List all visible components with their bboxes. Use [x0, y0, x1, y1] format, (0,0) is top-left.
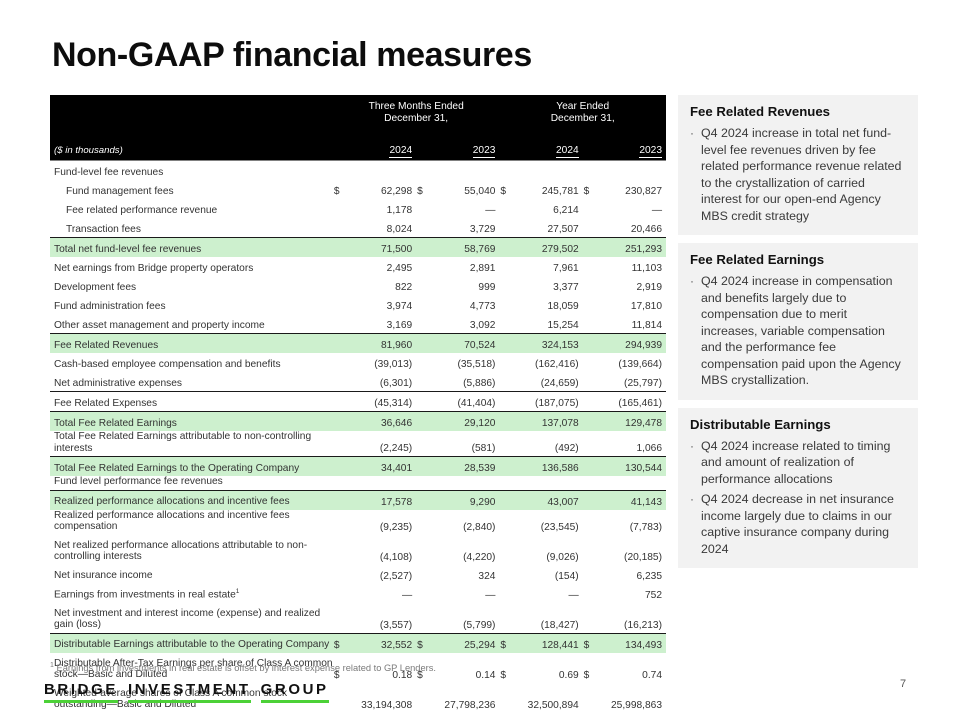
- bullet-item: ·Q4 2024 decrease in net insurance incom…: [690, 491, 906, 557]
- currency-symbol-3: [499, 372, 513, 392]
- cell-value: 18,059: [513, 295, 582, 314]
- table-row: Net insurance income(2,527)324(154)6,235: [50, 565, 666, 584]
- currency-symbol-2: [416, 490, 430, 510]
- currency-symbol-2: [416, 353, 430, 372]
- cell-value: [513, 161, 582, 181]
- year-header-3: 2024: [513, 135, 582, 161]
- table-row: Fund level performance fee revenues: [50, 476, 666, 490]
- currency-symbol-4: [583, 535, 597, 565]
- table-row: Total Fee Related Earnings attributable …: [50, 431, 666, 457]
- cell-value: 58,769: [430, 238, 499, 258]
- bullet-text: Q4 2024 increase related to timing and a…: [701, 438, 906, 488]
- cell-value: 28,539: [430, 457, 499, 477]
- row-label: Total net fund-level fee revenues: [50, 238, 333, 258]
- cell-value: (39,013): [347, 353, 416, 372]
- panel-title: Fee Related Earnings: [690, 252, 906, 268]
- cell-value: (4,108): [347, 535, 416, 565]
- row-label: Fund management fees: [50, 180, 333, 199]
- currency-symbol-4: [583, 295, 597, 314]
- cell-value: 11,103: [597, 257, 666, 276]
- cell-value: (165,461): [597, 392, 666, 412]
- cell-value: [430, 476, 499, 490]
- row-label-superscript: 1: [236, 588, 240, 595]
- currency-symbol-1: [333, 372, 347, 392]
- bullet-item: ·Q4 2024 increase related to timing and …: [690, 438, 906, 488]
- non-gaap-reconciliation-table: Three Months EndedDecember 31,Year Ended…: [50, 95, 666, 713]
- commentary-panel: Fee Related Earnings·Q4 2024 increase in…: [678, 243, 918, 400]
- currency-symbol-3: [499, 218, 513, 238]
- logo-word: INVESTMENT: [128, 682, 251, 703]
- table-row: Net administrative expenses(6,301)(5,886…: [50, 372, 666, 392]
- table-row: Fund administration fees3,9744,77318,059…: [50, 295, 666, 314]
- commentary-panels: Fee Related Revenues·Q4 2024 increase in…: [678, 95, 918, 576]
- currency-symbol-1: [333, 490, 347, 510]
- currency-symbol-2: [416, 314, 430, 334]
- table-row: Total Fee Related Earnings36,64629,12013…: [50, 412, 666, 432]
- cell-value: 7,961: [513, 257, 582, 276]
- currency-symbol-4: [583, 238, 597, 258]
- currency-symbol-1: [333, 565, 347, 584]
- bullet-text: Q4 2024 increase in compensation and ben…: [701, 273, 906, 389]
- table-row: Transaction fees8,0243,72927,50720,466: [50, 218, 666, 238]
- cell-value: 294,939: [597, 334, 666, 354]
- row-label: Other asset management and property inco…: [50, 314, 333, 334]
- cell-value: —: [430, 199, 499, 218]
- cell-value: 2,919: [597, 276, 666, 295]
- cell-value: 9,290: [430, 490, 499, 510]
- cell-value: (18,427): [513, 603, 582, 634]
- cell-value: 32,552: [347, 633, 416, 653]
- cell-value: 81,960: [347, 334, 416, 354]
- table-footnote: 1 Earnings from investments in real esta…: [50, 660, 670, 674]
- cell-value: [430, 161, 499, 181]
- currency-symbol-4: [583, 510, 597, 535]
- cell-value: (45,314): [347, 392, 416, 412]
- cell-value: —: [513, 584, 582, 603]
- cell-value: 71,500: [347, 238, 416, 258]
- currency-symbol-3: [499, 565, 513, 584]
- currency-symbol-1: [333, 161, 347, 181]
- currency-symbol-2: [416, 603, 430, 634]
- year-header-2: 2023: [430, 135, 499, 161]
- currency-symbol-4: [583, 490, 597, 510]
- cell-value: 3,974: [347, 295, 416, 314]
- bullet-text: Q4 2024 decrease in net insurance income…: [701, 491, 906, 557]
- bridge-investment-group-logo: BRIDGEINVESTMENTGROUP: [44, 682, 329, 703]
- cell-value: (24,659): [513, 372, 582, 392]
- currency-symbol-1: [333, 238, 347, 258]
- row-label: Distributable Earnings attributable to t…: [50, 633, 333, 653]
- currency-symbol-3: [499, 314, 513, 334]
- cell-value: (5,799): [430, 603, 499, 634]
- year-col-spacer-3: [499, 135, 513, 161]
- currency-symbol-1: [333, 510, 347, 535]
- currency-symbol-1: $: [333, 180, 347, 199]
- header-blank: [50, 95, 333, 135]
- row-label: Realized performance allocations and inc…: [50, 510, 333, 535]
- currency-symbol-1: [333, 683, 347, 713]
- currency-symbol-1: [333, 218, 347, 238]
- cell-value: 34,401: [347, 457, 416, 477]
- currency-symbol-2: [416, 334, 430, 354]
- currency-symbol-2: [416, 412, 430, 432]
- currency-symbol-4: [583, 412, 597, 432]
- currency-symbol-2: [416, 276, 430, 295]
- panel-title: Fee Related Revenues: [690, 104, 906, 120]
- logo-word: GROUP: [261, 682, 329, 703]
- currency-symbol-1: [333, 535, 347, 565]
- cell-value: 25,294: [430, 633, 499, 653]
- cell-value: [347, 476, 416, 490]
- cell-value: 27,507: [513, 218, 582, 238]
- bullet-item: ·Q4 2024 increase in total net fund-leve…: [690, 125, 906, 224]
- cell-value: 3,092: [430, 314, 499, 334]
- cell-value: (9,026): [513, 535, 582, 565]
- table-header-years: ($ in thousands)2024202320242023: [50, 135, 666, 161]
- units-note: ($ in thousands): [50, 135, 333, 161]
- table-row: Other asset management and property inco…: [50, 314, 666, 334]
- cell-value: (5,886): [430, 372, 499, 392]
- cell-value: 752: [597, 584, 666, 603]
- currency-symbol-3: [499, 510, 513, 535]
- currency-symbol-3: [499, 257, 513, 276]
- currency-symbol-2: [416, 683, 430, 713]
- cell-value: 25,998,863: [597, 683, 666, 713]
- cell-value: 279,502: [513, 238, 582, 258]
- row-label: Net realized performance allocations att…: [50, 535, 333, 565]
- bullet-dot-icon: ·: [690, 273, 701, 290]
- table-row: Total net fund-level fee revenues71,5005…: [50, 238, 666, 258]
- currency-symbol-3: [499, 412, 513, 432]
- currency-symbol-2: [416, 431, 430, 457]
- cell-value: —: [430, 584, 499, 603]
- cell-value: 245,781: [513, 180, 582, 199]
- currency-symbol-1: [333, 431, 347, 457]
- cell-value: 6,235: [597, 565, 666, 584]
- cell-value: (187,075): [513, 392, 582, 412]
- cell-value: (154): [513, 565, 582, 584]
- cell-value: (4,220): [430, 535, 499, 565]
- currency-symbol-4: $: [583, 180, 597, 199]
- currency-symbol-2: [416, 161, 430, 181]
- currency-symbol-3: [499, 295, 513, 314]
- cell-value: —: [347, 584, 416, 603]
- year-col-spacer-1: [333, 135, 347, 161]
- currency-symbol-3: $: [499, 180, 513, 199]
- cell-value: (35,518): [430, 353, 499, 372]
- row-label: Cash-based employee compensation and ben…: [50, 353, 333, 372]
- table-row: Fee related performance revenue1,178—6,2…: [50, 199, 666, 218]
- table-row: Net earnings from Bridge property operat…: [50, 257, 666, 276]
- commentary-panel: Distributable Earnings·Q4 2024 increase …: [678, 408, 918, 569]
- currency-symbol-3: [499, 457, 513, 477]
- header-group-2: Year EndedDecember 31,: [499, 95, 666, 135]
- cell-value: 1,178: [347, 199, 416, 218]
- currency-symbol-1: [333, 353, 347, 372]
- cell-value: (2,840): [430, 510, 499, 535]
- currency-symbol-4: [583, 392, 597, 412]
- currency-symbol-4: [583, 161, 597, 181]
- cell-value: (23,545): [513, 510, 582, 535]
- currency-symbol-1: [333, 257, 347, 276]
- table-row: Fee Related Expenses(45,314)(41,404)(187…: [50, 392, 666, 412]
- currency-symbol-1: [333, 603, 347, 634]
- bullet-dot-icon: ·: [690, 125, 701, 142]
- currency-symbol-3: [499, 334, 513, 354]
- cell-value: 822: [347, 276, 416, 295]
- currency-symbol-3: [499, 431, 513, 457]
- cell-value: [513, 476, 582, 490]
- cell-value: 2,891: [430, 257, 499, 276]
- cell-value: [597, 476, 666, 490]
- cell-value: 43,007: [513, 490, 582, 510]
- currency-symbol-2: [416, 199, 430, 218]
- currency-symbol-4: [583, 257, 597, 276]
- table-row: Development fees8229993,3772,919: [50, 276, 666, 295]
- currency-symbol-3: [499, 199, 513, 218]
- cell-value: 324: [430, 565, 499, 584]
- cell-value: 17,810: [597, 295, 666, 314]
- cell-value: 20,466: [597, 218, 666, 238]
- cell-value: 1,066: [597, 431, 666, 457]
- row-label: Fund-level fee revenues: [50, 161, 333, 181]
- cell-value: (41,404): [430, 392, 499, 412]
- currency-symbol-4: [583, 334, 597, 354]
- currency-symbol-3: [499, 683, 513, 713]
- cell-value: 36,646: [347, 412, 416, 432]
- currency-symbol-2: [416, 372, 430, 392]
- cell-value: 27,798,236: [430, 683, 499, 713]
- cell-value: 33,194,308: [347, 683, 416, 713]
- cell-value: 62,298: [347, 180, 416, 199]
- year-header-4: 2023: [597, 135, 666, 161]
- currency-symbol-4: [583, 353, 597, 372]
- table-row: Net realized performance allocations att…: [50, 535, 666, 565]
- currency-symbol-2: [416, 457, 430, 477]
- year-col-spacer-4: [583, 135, 597, 161]
- cell-value: 55,040: [430, 180, 499, 199]
- currency-symbol-3: [499, 161, 513, 181]
- cell-value: (25,797): [597, 372, 666, 392]
- cell-value: (16,213): [597, 603, 666, 634]
- currency-symbol-4: [583, 199, 597, 218]
- cell-value: 8,024: [347, 218, 416, 238]
- cell-value: (9,235): [347, 510, 416, 535]
- currency-symbol-2: [416, 257, 430, 276]
- table-row: Realized performance allocations and inc…: [50, 490, 666, 510]
- bullet-dot-icon: ·: [690, 438, 701, 455]
- row-label: Fee Related Revenues: [50, 334, 333, 354]
- cell-value: 32,500,894: [513, 683, 582, 713]
- currency-symbol-4: [583, 457, 597, 477]
- commentary-panel: Fee Related Revenues·Q4 2024 increase in…: [678, 95, 918, 235]
- cell-value: 29,120: [430, 412, 499, 432]
- cell-value: 41,143: [597, 490, 666, 510]
- table-row: Fund-level fee revenues: [50, 161, 666, 181]
- currency-symbol-1: [333, 476, 347, 490]
- currency-symbol-2: [416, 510, 430, 535]
- cell-value: [347, 161, 416, 181]
- table-row: Distributable Earnings attributable to t…: [50, 633, 666, 653]
- row-label: Earnings from investments in real estate…: [50, 584, 333, 603]
- cell-value: 129,478: [597, 412, 666, 432]
- row-label: Total Fee Related Earnings: [50, 412, 333, 432]
- currency-symbol-1: [333, 314, 347, 334]
- cell-value: (492): [513, 431, 582, 457]
- currency-symbol-1: [333, 276, 347, 295]
- row-label: Net administrative expenses: [50, 372, 333, 392]
- currency-symbol-4: $: [583, 633, 597, 653]
- row-label: Fee Related Expenses: [50, 392, 333, 412]
- table-row: Fee Related Revenues81,96070,524324,1532…: [50, 334, 666, 354]
- cell-value: (7,783): [597, 510, 666, 535]
- currency-symbol-4: [583, 603, 597, 634]
- currency-symbol-1: $: [333, 633, 347, 653]
- bullet-text: Q4 2024 increase in total net fund-level…: [701, 125, 906, 224]
- currency-symbol-1: [333, 584, 347, 603]
- currency-symbol-2: $: [416, 180, 430, 199]
- cell-value: 137,078: [513, 412, 582, 432]
- footnote-marker: 1: [50, 662, 54, 669]
- row-label: Transaction fees: [50, 218, 333, 238]
- currency-symbol-2: [416, 295, 430, 314]
- cell-value: 2,495: [347, 257, 416, 276]
- currency-symbol-3: [499, 476, 513, 490]
- cell-value: 134,493: [597, 633, 666, 653]
- cell-value: 3,729: [430, 218, 499, 238]
- currency-symbol-4: [583, 584, 597, 603]
- cell-value: (162,416): [513, 353, 582, 372]
- currency-symbol-4: [583, 218, 597, 238]
- currency-symbol-2: [416, 218, 430, 238]
- cell-value: (2,527): [347, 565, 416, 584]
- cell-value: —: [597, 199, 666, 218]
- cell-value: (581): [430, 431, 499, 457]
- currency-symbol-1: [333, 199, 347, 218]
- currency-symbol-1: [333, 334, 347, 354]
- currency-symbol-3: [499, 276, 513, 295]
- row-label: Realized performance allocations and inc…: [50, 490, 333, 510]
- cell-value: 3,377: [513, 276, 582, 295]
- row-label: Net earnings from Bridge property operat…: [50, 257, 333, 276]
- currency-symbol-3: [499, 238, 513, 258]
- currency-symbol-3: $: [499, 633, 513, 653]
- currency-symbol-4: [583, 276, 597, 295]
- financial-table-container: Three Months EndedDecember 31,Year Ended…: [50, 95, 666, 713]
- table-row: Cash-based employee compensation and ben…: [50, 353, 666, 372]
- row-label: Fund level performance fee revenues: [50, 476, 333, 490]
- cell-value: 3,169: [347, 314, 416, 334]
- cell-value: 11,814: [597, 314, 666, 334]
- row-label: Total Fee Related Earnings attributable …: [50, 431, 333, 457]
- cell-value: 136,586: [513, 457, 582, 477]
- currency-symbol-2: [416, 535, 430, 565]
- cell-value: (6,301): [347, 372, 416, 392]
- currency-symbol-4: [583, 314, 597, 334]
- currency-symbol-4: [583, 683, 597, 713]
- table-header-groups: Three Months EndedDecember 31,Year Ended…: [50, 95, 666, 135]
- currency-symbol-1: [333, 412, 347, 432]
- cell-value: [597, 161, 666, 181]
- table-row: Net investment and interest income (expe…: [50, 603, 666, 634]
- currency-symbol-2: $: [416, 633, 430, 653]
- cell-value: (20,185): [597, 535, 666, 565]
- currency-symbol-3: [499, 490, 513, 510]
- currency-symbol-3: [499, 603, 513, 634]
- currency-symbol-4: [583, 431, 597, 457]
- cell-value: 128,441: [513, 633, 582, 653]
- currency-symbol-1: [333, 295, 347, 314]
- row-label: Net insurance income: [50, 565, 333, 584]
- cell-value: (139,664): [597, 353, 666, 372]
- row-label: Fund administration fees: [50, 295, 333, 314]
- table-row: Fund management fees$62,298$55,040$245,7…: [50, 180, 666, 199]
- cell-value: 230,827: [597, 180, 666, 199]
- panel-title: Distributable Earnings: [690, 417, 906, 433]
- cell-value: 17,578: [347, 490, 416, 510]
- cell-value: 70,524: [430, 334, 499, 354]
- bullet-dot-icon: ·: [690, 491, 701, 508]
- currency-symbol-2: [416, 476, 430, 490]
- table-row: Earnings from investments in real estate…: [50, 584, 666, 603]
- currency-symbol-2: [416, 584, 430, 603]
- currency-symbol-2: [416, 238, 430, 258]
- currency-symbol-4: [583, 476, 597, 490]
- footnote-text: Earnings from investments in real estate…: [57, 663, 436, 673]
- header-group-1: Three Months EndedDecember 31,: [333, 95, 500, 135]
- row-label: Net investment and interest income (expe…: [50, 603, 333, 634]
- cell-value: 6,214: [513, 199, 582, 218]
- cell-value: 4,773: [430, 295, 499, 314]
- currency-symbol-1: [333, 392, 347, 412]
- currency-symbol-3: [499, 353, 513, 372]
- currency-symbol-3: [499, 535, 513, 565]
- currency-symbol-4: [583, 372, 597, 392]
- row-label: Total Fee Related Earnings to the Operat…: [50, 457, 333, 477]
- year-col-spacer-2: [416, 135, 430, 161]
- currency-symbol-3: [499, 392, 513, 412]
- cell-value: 999: [430, 276, 499, 295]
- cell-value: (3,557): [347, 603, 416, 634]
- row-label: Development fees: [50, 276, 333, 295]
- currency-symbol-4: [583, 565, 597, 584]
- row-label: Fee related performance revenue: [50, 199, 333, 218]
- year-header-1: 2024: [347, 135, 416, 161]
- cell-value: 251,293: [597, 238, 666, 258]
- page-number: 7: [900, 678, 906, 690]
- currency-symbol-2: [416, 392, 430, 412]
- logo-word: BRIDGE: [44, 682, 118, 703]
- bullet-item: ·Q4 2024 increase in compensation and be…: [690, 273, 906, 389]
- cell-value: 324,153: [513, 334, 582, 354]
- table-row: Total Fee Related Earnings to the Operat…: [50, 457, 666, 477]
- currency-symbol-3: [499, 584, 513, 603]
- cell-value: 15,254: [513, 314, 582, 334]
- currency-symbol-1: [333, 457, 347, 477]
- currency-symbol-2: [416, 565, 430, 584]
- table-row: Realized performance allocations and inc…: [50, 510, 666, 535]
- cell-value: 130,544: [597, 457, 666, 477]
- cell-value: (2,245): [347, 431, 416, 457]
- page-title: Non-GAAP financial measures: [52, 36, 532, 75]
